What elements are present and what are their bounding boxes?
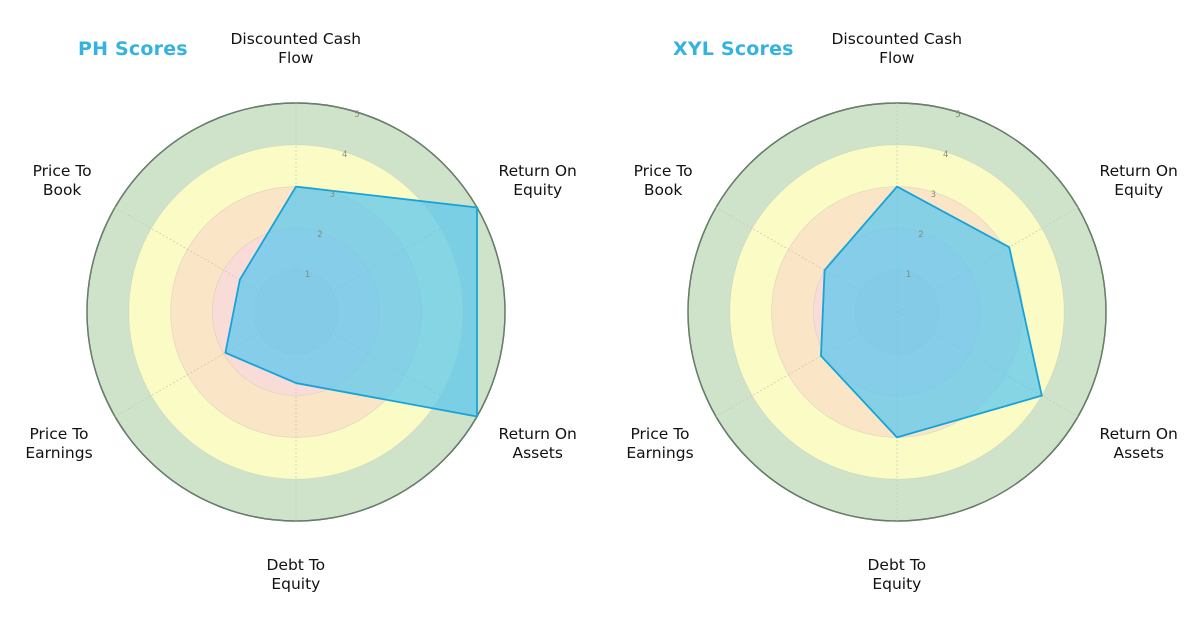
axis-label-return-on-equity: Return On Equity [1100, 162, 1178, 200]
axis-label-return-on-assets: Return On Assets [499, 425, 577, 463]
axis-label-debt-to-equity: Debt To Equity [267, 556, 326, 594]
axis-label-discounted-cash-flow: Discounted Cash Flow [832, 30, 963, 68]
radial-tick-label: 2 [918, 230, 923, 240]
axis-label-price-to-earnings: Price To Earnings [626, 425, 693, 463]
radar-figure: PH Scores 12345 Discounted Cash FlowRetu… [0, 0, 1200, 625]
radial-tick-label: 5 [955, 110, 960, 120]
radar-chart-xyl: 12345 [600, 0, 1200, 625]
radar-chart-ph: 12345 [0, 0, 600, 625]
chart-panel-xyl: XYL Scores 12345 Discounted Cash FlowRet… [600, 0, 1200, 625]
axis-label-discounted-cash-flow: Discounted Cash Flow [231, 30, 362, 68]
radial-tick-label: 3 [330, 190, 335, 200]
radial-tick-label: 3 [931, 190, 936, 200]
axis-label-debt-to-equity: Debt To Equity [868, 556, 927, 594]
axis-label-price-to-book: Price To Book [33, 162, 92, 200]
axis-label-price-to-earnings: Price To Earnings [25, 425, 92, 463]
radial-tick-label: 2 [317, 230, 322, 240]
chart-panel-ph: PH Scores 12345 Discounted Cash FlowRetu… [0, 0, 600, 625]
axis-label-price-to-book: Price To Book [634, 162, 693, 200]
axis-label-return-on-assets: Return On Assets [1100, 425, 1178, 463]
radial-tick-label: 5 [354, 110, 359, 120]
radial-tick-label: 4 [943, 150, 948, 160]
radial-tick-label: 4 [342, 150, 347, 160]
axis-label-return-on-equity: Return On Equity [499, 162, 577, 200]
radial-tick-label: 1 [906, 270, 911, 280]
radial-tick-label: 1 [305, 270, 310, 280]
